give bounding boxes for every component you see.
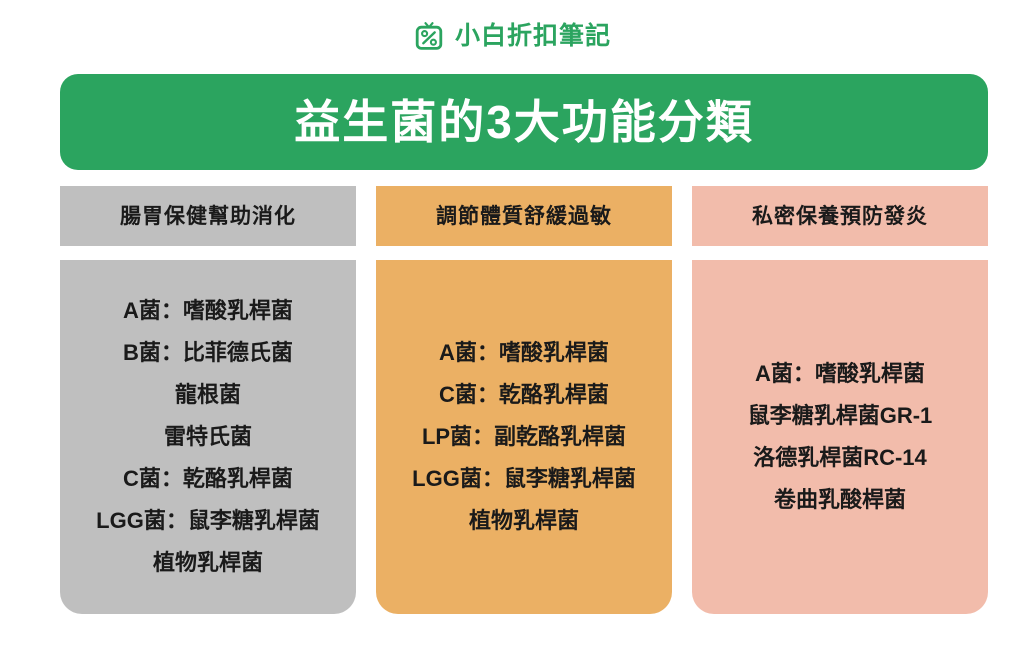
list-item: B菌：比菲德氏菌 — [123, 342, 293, 364]
category-columns: 腸胃保健幫助消化 A菌：嗜酸乳桿菌 B菌：比菲德氏菌 龍根菌 雷特氏菌 C菌：乾… — [60, 186, 988, 614]
title-banner: 益生菌的3大功能分類 — [60, 74, 988, 170]
list-item: 龍根菌 — [175, 384, 241, 406]
column-private-care: 私密保養預防發炎 A菌：嗜酸乳桿菌 鼠李糖乳桿菌GR-1 洛德乳桿菌RC-14 … — [692, 186, 988, 614]
list-item: LGG菌：鼠李糖乳桿菌 — [412, 468, 636, 490]
list-item: 雷特氏菌 — [164, 426, 252, 448]
column-allergy-relief: 調節體質舒緩過敏 A菌：嗜酸乳桿菌 C菌：乾酪乳桿菌 LP菌：副乾酪乳桿菌 LG… — [376, 186, 672, 614]
list-item: A菌：嗜酸乳桿菌 — [755, 363, 925, 385]
column-header-label: 調節體質舒緩過敏 — [436, 206, 612, 227]
column-header-allergy-relief: 調節體質舒緩過敏 — [376, 186, 672, 246]
page-title: 益生菌的3大功能分類 — [294, 99, 754, 145]
list-item: C菌：乾酪乳桿菌 — [123, 468, 293, 490]
list-item: 鼠李糖乳桿菌GR-1 — [748, 405, 933, 427]
list-item: 植物乳桿菌 — [469, 510, 579, 532]
list-item: 卷曲乳酸桿菌 — [774, 489, 906, 511]
list-item: 植物乳桿菌 — [153, 552, 263, 574]
brand-header: 小白折扣筆記 — [0, 14, 1024, 58]
list-item: LGG菌：鼠李糖乳桿菌 — [96, 510, 320, 532]
list-item: LP菌：副乾酪乳桿菌 — [422, 426, 626, 448]
list-item: A菌：嗜酸乳桿菌 — [123, 300, 293, 322]
brand-name: 小白折扣筆記 — [455, 24, 611, 49]
column-gut-health: 腸胃保健幫助消化 A菌：嗜酸乳桿菌 B菌：比菲德氏菌 龍根菌 雷特氏菌 C菌：乾… — [60, 186, 356, 614]
column-header-private-care: 私密保養預防發炎 — [692, 186, 988, 246]
list-item: A菌：嗜酸乳桿菌 — [439, 342, 609, 364]
infographic-page: 小白折扣筆記 益生菌的3大功能分類 腸胃保健幫助消化 A菌：嗜酸乳桿菌 B菌：比… — [0, 0, 1024, 648]
list-item: C菌：乾酪乳桿菌 — [439, 384, 609, 406]
list-item: 洛德乳桿菌RC-14 — [753, 447, 927, 469]
column-body-private-care: A菌：嗜酸乳桿菌 鼠李糖乳桿菌GR-1 洛德乳桿菌RC-14 卷曲乳酸桿菌 — [692, 260, 988, 614]
column-header-label: 腸胃保健幫助消化 — [120, 206, 296, 227]
column-body-allergy-relief: A菌：嗜酸乳桿菌 C菌：乾酪乳桿菌 LP菌：副乾酪乳桿菌 LGG菌：鼠李糖乳桿菌… — [376, 260, 672, 614]
discount-percent-icon — [413, 20, 445, 52]
column-body-gut-health: A菌：嗜酸乳桿菌 B菌：比菲德氏菌 龍根菌 雷特氏菌 C菌：乾酪乳桿菌 LGG菌… — [60, 260, 356, 614]
column-header-gut-health: 腸胃保健幫助消化 — [60, 186, 356, 246]
column-header-label: 私密保養預防發炎 — [752, 206, 928, 227]
